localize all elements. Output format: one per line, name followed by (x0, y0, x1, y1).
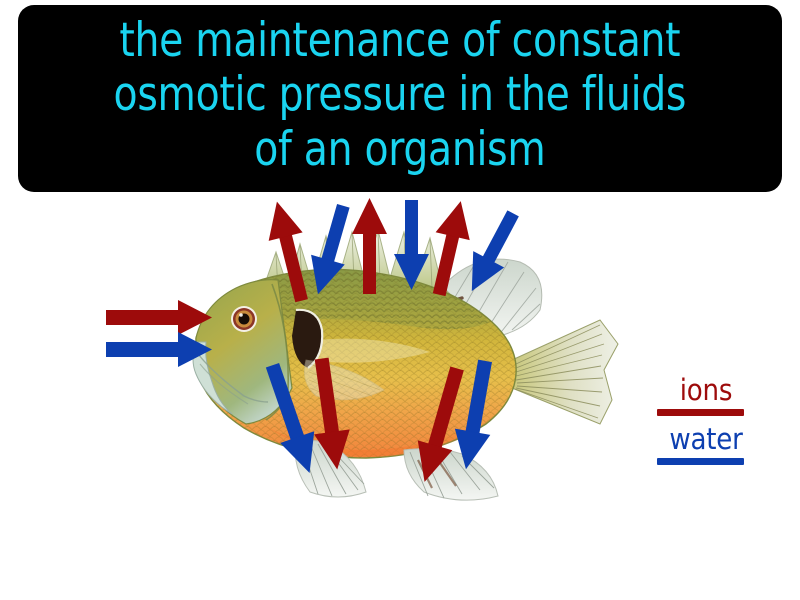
legend-label-water: water (656, 425, 756, 454)
legend-item-ions: ions (650, 376, 760, 416)
fish-eye (231, 306, 257, 332)
arrow-ions-in-mouth (106, 300, 212, 335)
legend-swatch-ions (657, 409, 744, 416)
legend-label-ions: ions (656, 376, 756, 405)
legend-swatch-water (657, 458, 744, 465)
legend: ions water (650, 376, 760, 474)
anal-fin (404, 449, 498, 501)
legend-item-water: water (650, 425, 760, 465)
definition-banner: the maintenance of constant osmotic pres… (18, 5, 782, 192)
osmoregulation-definition-card: the maintenance of constant osmotic pres… (0, 0, 800, 600)
definition-text: the maintenance of constant osmotic pres… (114, 14, 687, 178)
caudal-fin (512, 320, 618, 424)
